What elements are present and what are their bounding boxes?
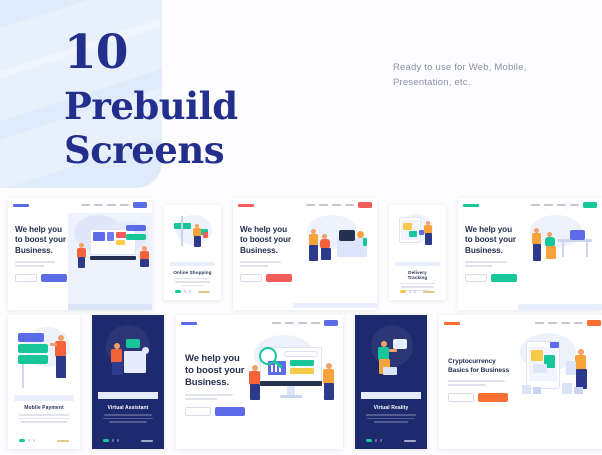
nav-link[interactable] — [298, 322, 307, 324]
skip-button[interactable] — [141, 440, 153, 442]
hero-title: Prebuild Screens — [64, 84, 394, 172]
secondary-button[interactable] — [15, 274, 37, 282]
mobile-title: Mobile Payment — [17, 405, 71, 411]
card-paragraph — [185, 394, 246, 400]
nav-cta-button[interactable] — [583, 202, 597, 208]
mobile-title: Delivery Tracking — [398, 270, 437, 280]
pagination-dots[interactable] — [400, 290, 416, 293]
card-paragraph — [448, 380, 516, 386]
desktop-screen-business-teal[interactable]: We help you to boost your Business. — [458, 198, 602, 310]
hero-number: 10 — [64, 28, 394, 78]
card-navbar — [458, 198, 602, 213]
illustration-search-monitor — [246, 331, 343, 449]
screens-grid: We help you to boost your Business. — [0, 198, 602, 310]
primary-button[interactable] — [478, 393, 508, 402]
illustration-shopper-street-sign — [170, 211, 215, 266]
secondary-button[interactable] — [465, 274, 487, 282]
nav-cta-button[interactable] — [587, 320, 601, 326]
card-navbar — [8, 198, 152, 213]
pagination-dots[interactable] — [19, 439, 35, 442]
nav-link[interactable] — [272, 322, 281, 324]
nav-link[interactable] — [570, 204, 579, 206]
illustration-assistant-chat — [98, 321, 158, 401]
card-paragraph — [15, 261, 68, 267]
desktop-screen-cryptocurrency[interactable]: Cryptocurrency Basics for Business — [439, 315, 602, 449]
nav-link[interactable] — [548, 322, 557, 324]
nav-links[interactable] — [81, 202, 147, 208]
illustration-map-delivery — [395, 211, 440, 266]
primary-button[interactable] — [266, 274, 292, 282]
card-heading: Business. — [240, 246, 293, 257]
nav-link[interactable] — [94, 204, 103, 206]
screens-row-1: We help you to boost your Business. — [0, 198, 602, 310]
preview-canvas: 10 Prebuild Screens Ready to use for Web… — [0, 0, 602, 455]
nav-link[interactable] — [561, 322, 570, 324]
mobile-screen-delivery-tracking[interactable]: Delivery Tracking — [389, 205, 446, 300]
card-heading: to boost your — [185, 365, 246, 377]
nav-cta-button[interactable] — [324, 320, 338, 326]
hero-subtitle: Ready to use for Web, Mobile, Presentati… — [393, 60, 563, 90]
card-heading: Basics for Business — [448, 366, 516, 375]
skip-button[interactable] — [198, 291, 210, 293]
mobile-copy: Online Shopping — [164, 266, 221, 286]
mobile-copy: Virtual Assistant — [92, 401, 164, 422]
card-heading: to boost your — [465, 235, 518, 246]
mobile-footer — [8, 439, 80, 442]
nav-link[interactable] — [306, 204, 315, 206]
card-heading: to boost your — [15, 235, 68, 246]
nav-link[interactable] — [574, 322, 583, 324]
nav-links[interactable] — [272, 320, 338, 326]
mobile-footer — [355, 439, 427, 442]
desktop-screen-business-coral[interactable]: We help you to boost your Business. — [233, 198, 377, 310]
nav-link[interactable] — [319, 204, 328, 206]
card-heading: We help you — [15, 225, 68, 236]
nav-cta-button[interactable] — [358, 202, 372, 208]
mobile-footer — [164, 290, 221, 293]
hero-text-block: 10 Prebuild Screens — [64, 28, 394, 172]
hero-copy: We help you to boost your Business. — [176, 331, 246, 449]
card-paragraph — [240, 261, 293, 267]
mobile-title: Virtual Assistant — [101, 405, 155, 411]
card-cta-group[interactable] — [15, 274, 68, 282]
nav-cta-button[interactable] — [133, 202, 147, 208]
hero-copy: Cryptocurrency Basics for Business — [439, 331, 516, 449]
mobile-footer — [92, 439, 164, 442]
desktop-screen-business-search[interactable]: We help you to boost your Business. — [176, 315, 343, 449]
brand-logo-icon — [444, 322, 460, 325]
card-cta-group[interactable] — [185, 407, 246, 416]
nav-link[interactable] — [285, 322, 294, 324]
screens-row-2: Mobile Payment — [0, 315, 602, 453]
hero-copy: We help you to boost your Business. — [233, 213, 293, 310]
mobile-copy: Mobile Payment — [8, 401, 80, 422]
card-heading: to boost your — [240, 235, 293, 246]
skip-button[interactable] — [423, 291, 435, 293]
card-heading: Cryptocurrency — [448, 357, 516, 366]
illustration-vr-user — [361, 321, 421, 401]
nav-link[interactable] — [332, 204, 341, 206]
mobile-screen-online-shopping[interactable]: Online Shopping — [164, 205, 221, 300]
illustration-payment-board — [14, 321, 74, 401]
pagination-dots[interactable] — [103, 439, 119, 442]
card-body: We help you to boost your Business. — [8, 213, 152, 310]
nav-link[interactable] — [311, 322, 320, 324]
secondary-button[interactable] — [185, 407, 211, 416]
mobile-screen-virtual-assistant[interactable]: Virtual Assistant — [92, 315, 164, 449]
brand-logo-icon — [13, 204, 29, 207]
card-heading: We help you — [465, 225, 518, 236]
card-heading: We help you — [240, 225, 293, 236]
primary-button[interactable] — [491, 274, 517, 282]
desktop-screen-business-indigo[interactable]: We help you to boost your Business. — [8, 198, 152, 310]
nav-link[interactable] — [535, 322, 544, 324]
nav-link[interactable] — [531, 204, 540, 206]
nav-links[interactable] — [535, 320, 601, 326]
illustration-crypto-map-phone — [516, 331, 602, 449]
nav-link[interactable] — [544, 204, 553, 206]
card-cta-group[interactable] — [465, 274, 518, 282]
primary-button[interactable] — [215, 407, 245, 416]
card-navbar — [439, 315, 602, 331]
mobile-title: Online Shopping — [173, 270, 212, 275]
card-body: Cryptocurrency Basics for Business — [439, 331, 602, 449]
nav-link[interactable] — [81, 204, 90, 206]
mobile-copy: Delivery Tracking — [389, 266, 446, 291]
illustration-desk-coworkers — [293, 213, 377, 310]
mobile-screen-virtual-reality[interactable]: Virtual Reality — [355, 315, 427, 449]
secondary-button[interactable] — [240, 274, 262, 282]
brand-logo-icon — [181, 322, 197, 325]
card-navbar — [233, 198, 377, 213]
card-navbar — [176, 315, 343, 331]
nav-links[interactable] — [531, 202, 597, 208]
mobile-copy: Virtual Reality — [355, 401, 427, 422]
mobile-title: Virtual Reality — [364, 405, 418, 411]
nav-link[interactable] — [107, 204, 116, 206]
card-heading: Business. — [465, 246, 518, 257]
card-heading: Business. — [185, 377, 246, 389]
nav-links[interactable] — [306, 202, 372, 208]
mobile-footer — [389, 290, 446, 293]
primary-button[interactable] — [41, 274, 67, 282]
brand-logo-icon — [238, 204, 254, 207]
card-heading: We help you — [185, 353, 246, 365]
hero-copy: We help you to boost your Business. — [8, 213, 68, 310]
nav-link[interactable] — [557, 204, 566, 206]
hero-copy: We help you to boost your Business. — [458, 213, 518, 310]
nav-link[interactable] — [120, 204, 129, 206]
secondary-button[interactable] — [448, 393, 474, 402]
card-heading: Business. — [15, 246, 68, 257]
pagination-dots[interactable] — [175, 290, 191, 293]
illustration-team-desk-teal — [518, 213, 602, 310]
brand-logo-icon — [463, 204, 479, 207]
card-body: We help you to boost your Business. — [233, 213, 377, 310]
card-body: We help you to boost your Business. — [458, 213, 602, 310]
nav-link[interactable] — [345, 204, 354, 206]
mobile-screen-mobile-payment[interactable]: Mobile Payment — [8, 315, 80, 449]
card-paragraph — [465, 261, 518, 267]
card-body: We help you to boost your Business. — [176, 331, 343, 449]
card-cta-group[interactable] — [240, 274, 293, 282]
skip-button[interactable] — [404, 440, 416, 442]
pagination-dots[interactable] — [366, 439, 382, 442]
illustration-dashboard-analytics — [68, 213, 152, 310]
card-cta-group[interactable] — [448, 393, 516, 402]
skip-button[interactable] — [57, 440, 69, 442]
